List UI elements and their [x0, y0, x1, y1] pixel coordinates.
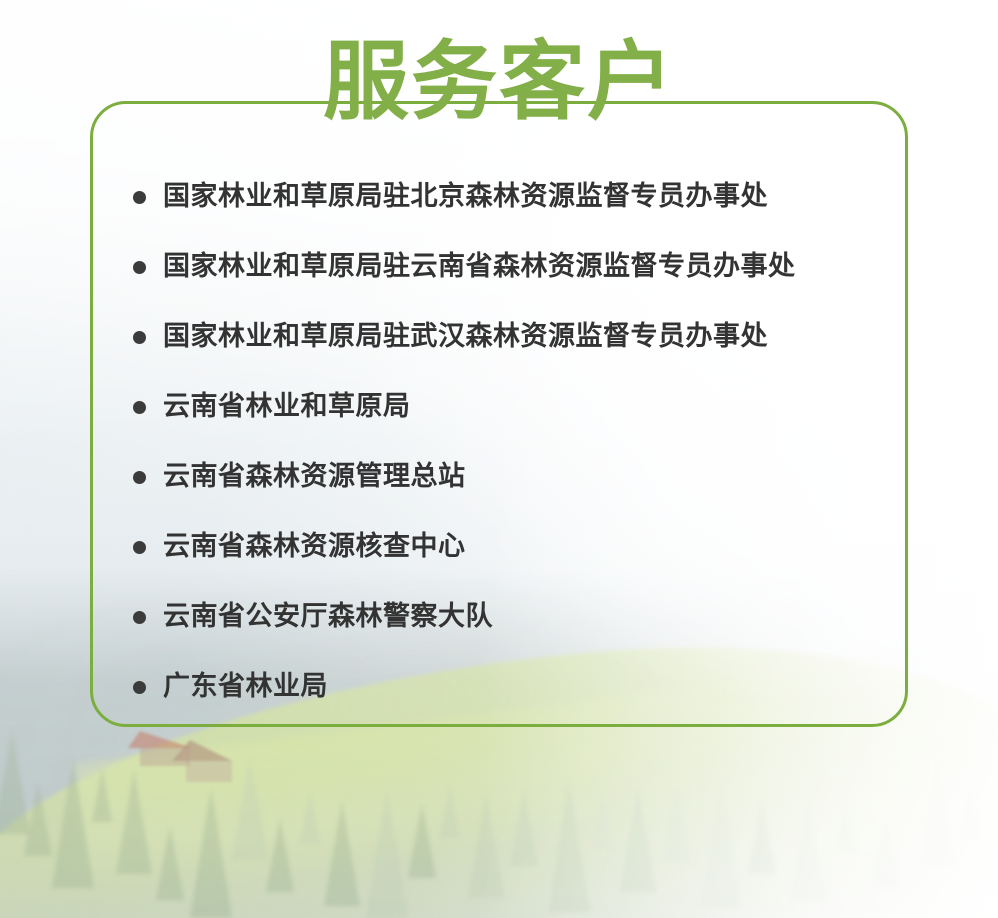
conifer-tree-icon: [548, 782, 590, 912]
bullet-icon: [133, 401, 146, 414]
conifer-tree-icon: [408, 804, 436, 878]
list-item: 国家林业和草原局驻武汉森林资源监督专员办事处: [133, 302, 881, 372]
conifer-tree-icon: [836, 798, 856, 852]
conifer-tree-icon: [592, 794, 612, 848]
bullet-icon: [133, 191, 146, 204]
conifer-tree-icon: [790, 796, 826, 900]
conifer-tree-icon: [52, 758, 94, 888]
list-item: 国家林业和草原局驻云南省森林资源监督专员办事处: [133, 232, 881, 302]
bullet-icon: [133, 541, 146, 554]
conifer-tree-icon: [116, 770, 152, 874]
conifer-tree-icon: [662, 788, 690, 862]
list-item: 云南省林业和草原局: [133, 372, 881, 442]
page-title: 服务客户: [0, 36, 998, 128]
conifer-tree-icon: [748, 800, 776, 874]
bullet-icon: [133, 471, 146, 484]
list-item: 云南省森林资源管理总站: [133, 442, 881, 512]
conifer-tree-icon: [920, 762, 956, 866]
conifer-tree-icon: [960, 786, 980, 840]
conifer-tree-icon: [324, 802, 360, 906]
list-item: 国家林业和草原局驻北京森林资源监督专员办事处: [133, 162, 881, 232]
client-name: 国家林业和草原局驻北京森林资源监督专员办事处: [163, 180, 768, 214]
conifer-tree-icon: [232, 756, 268, 860]
conifer-tree-icon: [300, 790, 320, 844]
client-list: 国家林业和草原局驻北京森林资源监督专员办事处 国家林业和草原局驻云南省森林资源监…: [133, 162, 881, 722]
client-name: 云南省林业和草原局: [163, 390, 411, 424]
conifer-tree-icon: [92, 768, 112, 822]
service-clients-poster: 国家林业和草原局驻北京森林资源监督专员办事处 国家林业和草原局驻云南省森林资源监…: [0, 0, 998, 918]
client-name: 云南省森林资源管理总站: [163, 460, 466, 494]
client-name: 广东省林业局: [163, 670, 328, 704]
list-item: 广东省林业局: [133, 652, 881, 722]
conifer-tree-icon: [24, 782, 52, 856]
conifer-tree-icon: [700, 778, 742, 908]
conifer-tree-icon: [468, 794, 504, 898]
client-name: 云南省公安厅森林警察大队: [163, 600, 493, 634]
conifer-tree-icon: [872, 814, 900, 888]
client-name: 云南省森林资源核查中心: [163, 530, 466, 564]
conifer-tree-icon: [156, 826, 184, 900]
conifer-tree-icon: [510, 792, 538, 866]
conifer-tree-icon: [366, 788, 408, 918]
conifer-tree-icon: [440, 784, 460, 838]
bullet-icon: [133, 611, 146, 624]
list-item: 云南省森林资源核查中心: [133, 512, 881, 582]
bullet-icon: [133, 331, 146, 344]
clients-card: 国家林业和草原局驻北京森林资源监督专员办事处 国家林业和草原局驻云南省森林资源监…: [90, 101, 908, 727]
conifer-tree-icon: [0, 730, 30, 834]
list-item: 云南省公安厅森林警察大队: [133, 582, 881, 652]
conifer-tree-icon: [266, 818, 294, 892]
bullet-icon: [133, 681, 146, 694]
bullet-icon: [133, 261, 146, 274]
client-name: 国家林业和草原局驻云南省森林资源监督专员办事处: [163, 250, 796, 284]
conifer-tree-icon: [620, 788, 656, 892]
client-name: 国家林业和草原局驻武汉森林资源监督专员办事处: [163, 320, 768, 354]
conifer-tree-icon: [190, 788, 232, 918]
